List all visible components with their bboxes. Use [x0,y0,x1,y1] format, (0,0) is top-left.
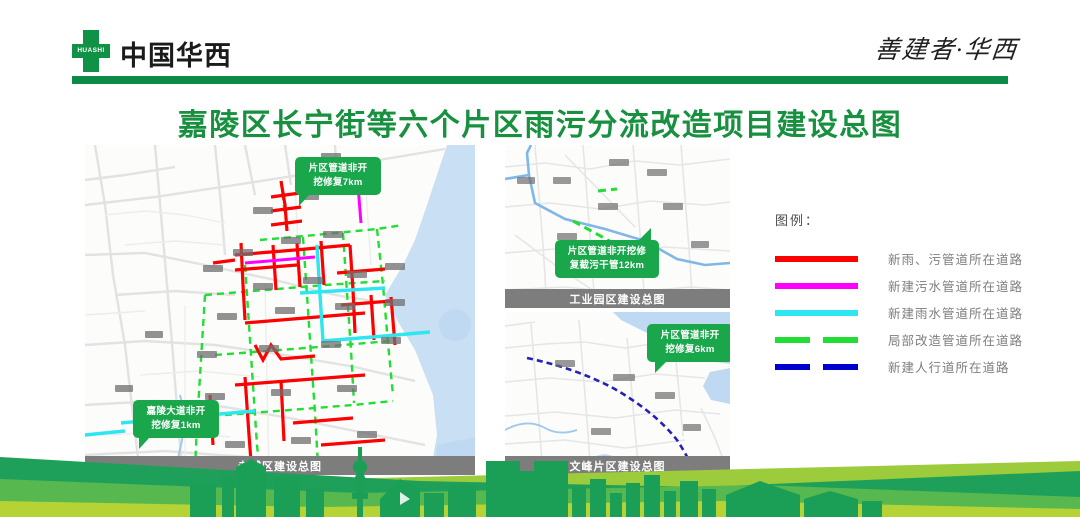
legend-item-partial-retrofit: 局部改造管道所在道路 [775,326,1075,353]
legend-swatch-blue-dashed [775,364,858,370]
callout-industrial-park-1: 片区管道非开挖修 复截污干管12km [555,240,659,278]
callout-tail [655,361,667,373]
callout-line-2: 复截污干管12km [570,260,645,271]
page-title: 嘉陵区长宁街等六个片区雨污分流改造项目建设总图 [0,100,1080,144]
callout-tail [139,437,150,449]
callout-line-2: 挖修复7km [313,177,362,188]
callout-wenfeng-1: 片区管道非开 挖修复6km [647,324,730,362]
callout-line-1: 片区管道非开 [661,330,720,341]
callout-line-2: 挖修复1km [151,420,200,431]
callout-line-1: 嘉陵大道非开 [147,406,206,417]
callout-old-town-1: 片区管道非开 挖修复7km [295,157,381,195]
company-slogan: 善建者·华西 [873,30,1020,66]
callout-line-1: 片区管道非开 [309,163,368,174]
legend-item-new-sidewalk: 新建人行道所在道路 [775,353,1075,380]
legend-label: 新建人行道所在道路 [888,357,1010,376]
logo-inner-label: HUASHI [72,47,110,54]
legend-swatch-cyan [775,310,858,316]
callout-line-2: 挖修复6km [665,344,714,355]
legend-panel: 图例： 新雨、污管道所在道路 新建污水管道所在道路 新建雨水管道所在道路 局部改… [775,210,1075,380]
legend-label: 新雨、污管道所在道路 [888,249,1023,268]
footer-decoration [0,437,1080,517]
map-panel-industrial-park[interactable]: 片区管道非开挖修 复截污干管12km 工业园区建设总图 [505,145,730,308]
callout-line-1: 片区管道非开挖修 [568,246,646,257]
callout-tail [638,228,651,241]
slide-root: HUASHI 中国华西 善建者·华西 嘉陵区长宁街等六个片区雨污分流改造项目建设… [0,0,1080,517]
legend-item-new-stormwater: 新建雨水管道所在道路 [775,299,1075,326]
legend-swatch-green-dashed [775,337,858,343]
industrial-park-map-graphic [505,145,730,308]
legend-label: 新建污水管道所在道路 [888,276,1023,295]
legend-label: 新建雨水管道所在道路 [888,303,1023,322]
slide-header: HUASHI 中国华西 善建者·华西 [0,0,1080,88]
map-caption-industrial-park: 工业园区建设总图 [505,289,730,308]
legend-item-new-rain-sewage: 新雨、污管道所在道路 [775,245,1075,272]
legend-label: 局部改造管道所在道路 [888,330,1023,349]
callout-old-town-2: 嘉陵大道非开 挖修复1km [133,400,219,438]
header-divider [72,76,1008,84]
legend-item-new-sewage: 新建污水管道所在道路 [775,272,1075,299]
callout-tail [299,194,310,206]
brand-name: 中国华西 [120,34,232,73]
legend-swatch-red [775,256,858,262]
map-panel-old-town[interactable]: 片区管道非开 挖修复7km 嘉陵大道非开 挖修复1km 老城区建设总图 [85,145,475,475]
legend-swatch-magenta [775,283,858,289]
legend-title: 图例： [775,210,1075,229]
footer-skyline-graphic [0,437,1080,517]
